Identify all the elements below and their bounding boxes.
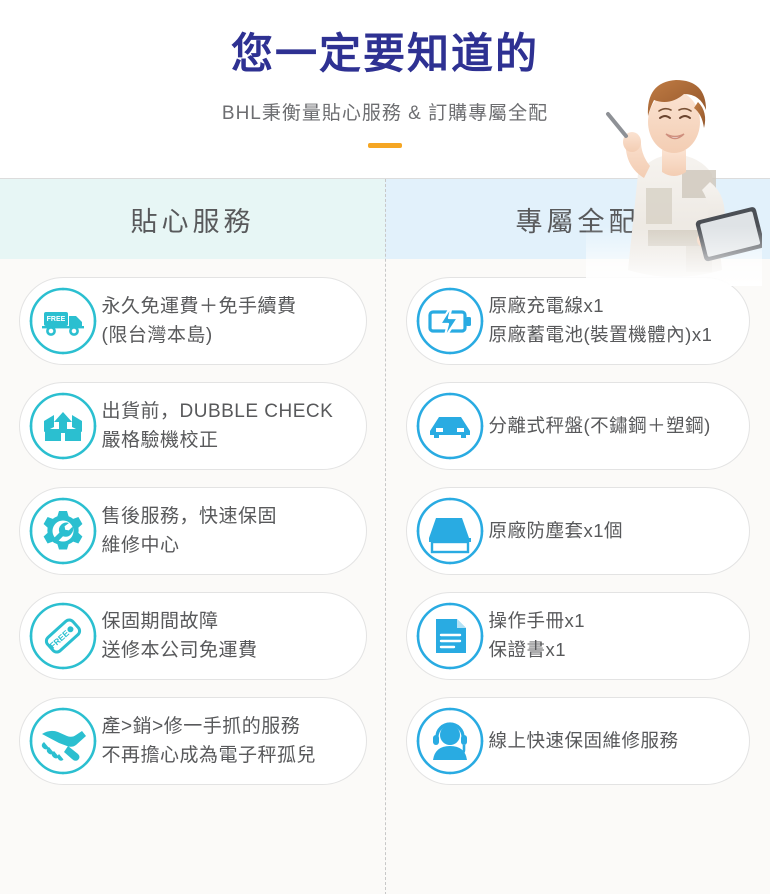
list-item[interactable]: 產>銷>修一手抓的服務 不再擔心成為電子秤孤兒 xyxy=(19,697,367,785)
headset-support-icon xyxy=(415,706,485,776)
list-item-text: 原廠防塵套x1個 xyxy=(489,517,632,546)
accessories-item-list: 原廠充電線x1 原廠蓄電池(裝置機體內)x1 xyxy=(385,259,770,785)
battery-charging-icon xyxy=(415,286,485,356)
list-item-text: 永久免運費＋免手續費 (限台灣本島) xyxy=(102,292,305,351)
free-shipping-truck-icon: FREE xyxy=(28,286,98,356)
dust-cover-icon xyxy=(415,496,485,566)
list-item-text: 保固期間故障 送修本公司免運費 xyxy=(102,607,266,666)
column-heading-accessories: 專屬全配 xyxy=(385,179,770,259)
list-item[interactable]: 操作手冊x1 保證書x1 xyxy=(406,592,750,680)
list-item-text: 線上快速保固維修服務 xyxy=(489,727,687,756)
list-item[interactable]: FREE 保固期間故障 送修本公司免運費 xyxy=(19,592,367,680)
svg-text:FREE: FREE xyxy=(46,316,65,323)
list-item[interactable]: 原廠充電線x1 原廠蓄電池(裝置機體內)x1 xyxy=(406,277,750,365)
column-accessories: 專屬全配 xyxy=(385,179,770,894)
list-item[interactable]: 原廠防塵套x1個 xyxy=(406,487,750,575)
column-service: 貼心服務 xyxy=(0,179,385,894)
list-item-text: 分離式秤盤(不鏽鋼＋塑鋼) xyxy=(489,412,719,441)
column-heading-service: 貼心服務 xyxy=(0,179,385,259)
list-item[interactable]: 分離式秤盤(不鏽鋼＋塑鋼) xyxy=(406,382,750,470)
svg-text:FREE: FREE xyxy=(47,628,71,651)
scale-platform-icon xyxy=(415,391,485,461)
list-item-text: 出貨前，DUBBLE CHECK 嚴格驗機校正 xyxy=(102,397,342,456)
page-header: 您一定要知道的 BHL秉衡量貼心服務 & 訂購專屬全配 xyxy=(0,0,770,178)
list-item[interactable]: FREE 永久免運費＋免手續費 (限台灣本島) xyxy=(19,277,367,365)
handshake-icon xyxy=(28,706,98,776)
free-price-tag-icon: FREE xyxy=(28,601,98,671)
list-item[interactable]: 線上快速保固維修服務 xyxy=(406,697,750,785)
list-item-text: 操作手冊x1 保證書x1 xyxy=(489,607,594,664)
gear-wrench-repair-icon xyxy=(28,496,98,566)
page-subtitle: BHL秉衡量貼心服務 & 訂購專屬全配 xyxy=(0,98,770,125)
page-title: 您一定要知道的 xyxy=(0,30,770,78)
list-item[interactable]: 售後服務，快速保固 維修中心 xyxy=(19,487,367,575)
open-box-check-icon xyxy=(28,391,98,461)
promo-page: 您一定要知道的 BHL秉衡量貼心服務 & 訂購專屬全配 xyxy=(0,0,770,894)
list-item-text: 產>銷>修一手抓的服務 不再擔心成為電子秤孤兒 xyxy=(102,712,325,771)
list-item[interactable]: 出貨前，DUBBLE CHECK 嚴格驗機校正 xyxy=(19,382,367,470)
list-item-text: 原廠充電線x1 原廠蓄電池(裝置機體內)x1 xyxy=(489,292,721,349)
feature-panel: 貼心服務 xyxy=(0,178,770,894)
column-divider xyxy=(385,179,386,894)
list-item-text: 售後服務，快速保固 維修中心 xyxy=(102,502,286,561)
document-manual-icon xyxy=(415,601,485,671)
service-item-list: FREE 永久免運費＋免手續費 (限台灣本島) xyxy=(0,259,385,785)
accent-rule xyxy=(368,143,402,148)
